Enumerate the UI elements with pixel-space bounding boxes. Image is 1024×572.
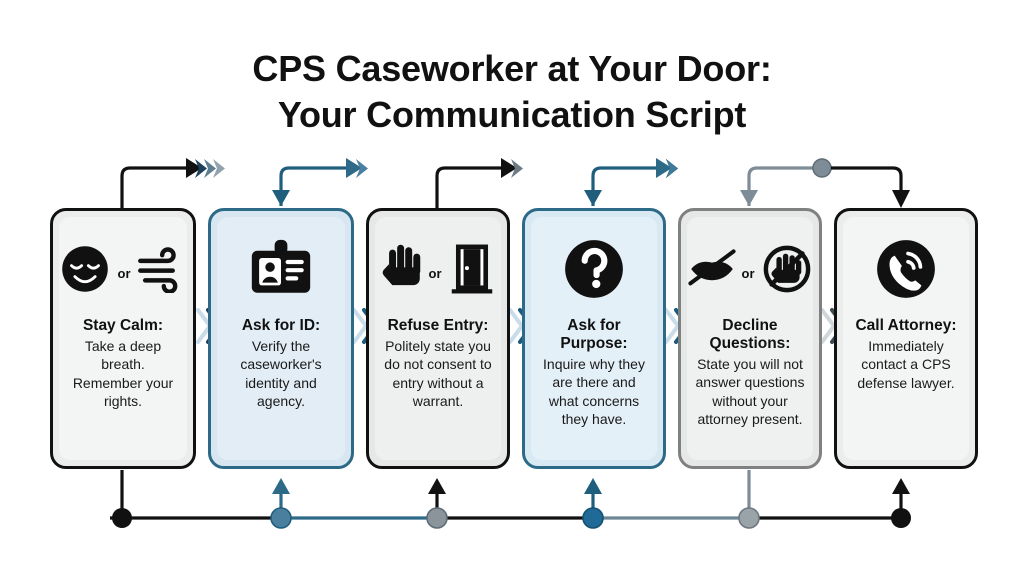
step-title: Stay Calm: xyxy=(83,317,163,335)
bottom-node-5 xyxy=(739,508,759,528)
no-speaking-lips-icon xyxy=(688,247,736,291)
step-card-refuse-entry[interactable]: or Refuse Entry: Politely state you do n… xyxy=(366,208,510,469)
question-mark-circle-icon xyxy=(561,236,627,302)
bottom-node-3 xyxy=(427,508,447,528)
stop-hand-icon xyxy=(381,243,423,295)
step-body: Immediately contact a CPS defense lawyer… xyxy=(847,337,965,392)
step-body: Inquire why they are there and what conc… xyxy=(535,355,653,428)
step-title: Call Attorney: xyxy=(855,317,956,335)
step-card-ask-for-purpose[interactable]: Ask for Purpose: Inquire why they are th… xyxy=(522,208,666,469)
or-label: or xyxy=(740,266,757,281)
bottom-node-6 xyxy=(891,508,911,528)
step-icon-row: or xyxy=(688,223,813,315)
step-title: Ask for ID: xyxy=(242,317,320,335)
step-body: Verify the caseworker's identity and age… xyxy=(221,337,341,410)
top-node-circle xyxy=(813,159,831,177)
step-card-ask-for-id[interactable]: Ask for ID: Verify the caseworker's iden… xyxy=(208,208,354,469)
step-title: Decline Questions: xyxy=(691,317,809,353)
step-icon-row xyxy=(561,223,627,315)
infographic-canvas: CPS Caseworker at Your Door: Your Commun… xyxy=(0,0,1024,572)
step-card-decline-questions[interactable]: or Decline Questions: State you will not… xyxy=(678,208,822,469)
step-body: State you will not answer questions with… xyxy=(691,355,809,428)
step-body: Take a deep breath. Remember your rights… xyxy=(63,337,183,410)
top-connector-2 xyxy=(272,158,368,206)
door-icon xyxy=(448,242,496,296)
step-title: Refuse Entry: xyxy=(388,317,489,335)
step-icon-row xyxy=(244,223,318,315)
step-title: Ask for Purpose: xyxy=(535,317,653,353)
no-hand-icon xyxy=(761,243,813,295)
relaxed-face-icon xyxy=(58,242,112,296)
or-label: or xyxy=(427,266,444,281)
or-label: or xyxy=(116,266,133,281)
bottom-node-1 xyxy=(112,508,132,528)
bottom-node-4 xyxy=(583,508,603,528)
top-connector-5 xyxy=(740,159,831,206)
step-card-call-attorney[interactable]: Call Attorney: Immediately contact a CPS… xyxy=(834,208,978,469)
step-body: Politely state you do not consent to ent… xyxy=(379,337,497,410)
top-connector-4 xyxy=(584,158,678,206)
bottom-stems xyxy=(122,470,910,512)
step-card-stay-calm[interactable]: or Stay Calm: Take a deep breath. Rememb… xyxy=(50,208,196,469)
top-connector-3 xyxy=(437,158,523,208)
bottom-node-2 xyxy=(271,508,291,528)
id-badge-icon xyxy=(244,238,318,300)
wind-icon xyxy=(137,245,189,293)
step-icon-row: or xyxy=(381,223,496,315)
step-icon-row xyxy=(873,223,939,315)
phone-ringing-icon xyxy=(873,236,939,302)
top-connector-6 xyxy=(831,168,910,208)
top-connector-1 xyxy=(122,158,225,208)
step-icon-row: or xyxy=(58,223,189,315)
